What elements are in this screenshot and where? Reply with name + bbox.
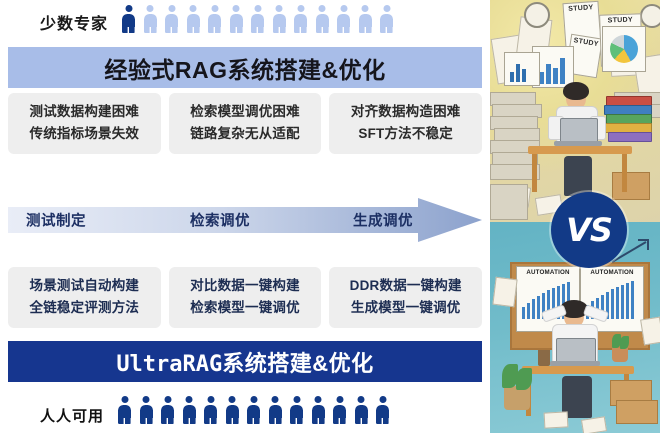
desk-top (528, 146, 632, 154)
person-icon (376, 396, 389, 424)
person-icon-body (337, 14, 350, 34)
person-icon-body (204, 405, 217, 425)
loose-paper (640, 317, 660, 346)
card-line: 传统指标场景失效 (30, 123, 140, 145)
pain-point-card: 检索模型调优困难 链路复杂无从适配 (169, 93, 322, 154)
person-icon-body (269, 405, 282, 425)
person-icon-head (121, 396, 128, 403)
pie-chart-poster (602, 26, 646, 72)
study-poster-label: STUDY (573, 37, 599, 48)
arrow-label: 生成调优 (353, 210, 413, 231)
pain-point-card-group: 测试数据构建困难 传统指标场景失效 检索模型调优困难 链路复杂无从适配 对齐数据… (8, 93, 482, 154)
person-icon-body (187, 14, 200, 34)
person-icon-body (165, 14, 178, 34)
solution-card: 对比数据一键构建 检索模型一键调优 (169, 267, 322, 328)
person-icon-head (383, 5, 390, 12)
arrow-label: 测试制定 (26, 210, 86, 231)
bar (522, 307, 525, 319)
bar (553, 68, 558, 84)
person-icon-head (233, 5, 240, 12)
desk-leg (532, 154, 537, 192)
desk-top (522, 366, 634, 374)
book (608, 132, 652, 142)
person-icon (269, 396, 282, 424)
solution-card: 场景测试自动构建 全链稳定评测方法 (8, 267, 161, 328)
ultrarag-banner-text: UltraRAG系统搭建&优化 (116, 346, 373, 378)
card-line: 检索模型调优困难 (190, 101, 300, 123)
person-icon-body (208, 14, 221, 34)
person-icon (294, 5, 307, 33)
person-icon (337, 5, 350, 33)
automation-poster: AUTOMATION (580, 266, 644, 332)
person-icon-head (336, 396, 343, 403)
loose-paper (544, 411, 569, 428)
person-icon-head (319, 5, 326, 12)
person-icon (183, 396, 196, 424)
plant-leaf (620, 336, 629, 349)
person-icon (208, 5, 221, 33)
card-line: 对比数据一键构建 (190, 275, 300, 297)
person-icon-head (254, 5, 261, 12)
person-icon (118, 396, 131, 424)
vs-badge-text: VS (566, 211, 612, 249)
person-icon-head (168, 5, 175, 12)
person-icon-body (144, 14, 157, 34)
person-icon-head (143, 396, 150, 403)
person-icon-head (190, 5, 197, 12)
cardboard-box (616, 400, 658, 424)
person-icon-body (251, 14, 264, 34)
bar (616, 287, 619, 319)
person-icon-body (316, 14, 329, 34)
bar (516, 64, 520, 82)
person-icon-head (207, 396, 214, 403)
card-line: SFT方法不稳定 (358, 123, 453, 145)
top-person-icon-group (122, 5, 393, 33)
card-line: 对齐数据构造困难 (351, 101, 461, 123)
pen-cup (538, 350, 550, 366)
cluttered-desk-photo: STUDY STUDY STUDY (490, 0, 660, 222)
person-icon-head (358, 396, 365, 403)
card-line: DDR数据一键构建 (350, 275, 462, 297)
person-icon (247, 396, 260, 424)
automation-poster-label: AUTOMATION (590, 269, 633, 276)
stage-flow-arrow: 测试制定 检索调优 生成调优 (8, 198, 482, 242)
person-icon-body (312, 405, 325, 425)
person-icon-body (290, 405, 303, 425)
card-line: 生成模型一键调优 (351, 297, 461, 319)
person-icon (140, 396, 153, 424)
person-icon-head (186, 396, 193, 403)
automation-poster-label: AUTOMATION (526, 269, 569, 276)
paper-pile (490, 184, 528, 220)
person-icon-body (359, 14, 372, 34)
bar (532, 299, 535, 319)
top-audience-row: 少数专家 (40, 5, 393, 33)
pie-chart-icon (610, 35, 638, 63)
loose-paper (581, 416, 607, 433)
person-icon-body (376, 405, 389, 425)
person-icon (226, 396, 239, 424)
bar (527, 303, 530, 319)
person-icon (187, 5, 200, 33)
bottom-audience-label: 人人可用 (40, 409, 104, 424)
person-icon-body (273, 14, 286, 34)
bar (626, 283, 629, 319)
card-line: 检索模型一键调优 (190, 297, 300, 319)
person-icon (122, 5, 135, 33)
study-poster-label: STUDY (568, 4, 594, 13)
person-icon-body (247, 405, 260, 425)
person-icon (161, 396, 174, 424)
person-icon-head (164, 396, 171, 403)
card-line: 全链稳定评测方法 (30, 297, 140, 319)
ultrarag-wordmark: UltraRAG (116, 352, 222, 377)
person-icon-body (230, 14, 243, 34)
desk-leg (622, 154, 627, 192)
person-icon (273, 5, 286, 33)
pain-point-card: 对齐数据构造困难 SFT方法不稳定 (329, 93, 482, 154)
person-icon-head (297, 5, 304, 12)
experience-rag-banner: 经验式RAG系统搭建&优化 (8, 47, 482, 88)
person-icon-body (122, 14, 135, 34)
person-icon (359, 5, 372, 33)
person-hair (563, 82, 589, 100)
card-line: 链路复杂无从适配 (190, 123, 300, 145)
person-icon-head (293, 396, 300, 403)
person-icon (204, 396, 217, 424)
person-icon (144, 5, 157, 33)
bottom-person-icon-group (118, 396, 389, 424)
person-icon-body (294, 14, 307, 34)
bar (611, 289, 614, 319)
experience-rag-banner-text: 经验式RAG系统搭建&优化 (104, 51, 385, 85)
person-icon (251, 5, 264, 33)
vs-badge: VS (551, 192, 627, 268)
person-icon-body (380, 14, 393, 34)
person-icon (355, 396, 368, 424)
person-icon (333, 396, 346, 424)
bar (621, 285, 624, 319)
person-icon-body (355, 405, 368, 425)
person-icon-body (118, 405, 131, 425)
plant-pot (612, 348, 628, 362)
person-icon (230, 5, 243, 33)
bar (510, 72, 514, 82)
person-icon-body (226, 405, 239, 425)
top-audience-label: 少数专家 (40, 17, 108, 33)
person-icon-head (379, 396, 386, 403)
person-icon-head (340, 5, 347, 12)
chair (564, 156, 592, 196)
person-icon-head (211, 5, 218, 12)
study-poster-label: STUDY (608, 17, 633, 25)
card-line: 测试数据构建困难 (30, 101, 140, 123)
person-icon (312, 396, 325, 424)
bar (546, 64, 551, 84)
person-icon-head (276, 5, 283, 12)
solution-card: DDR数据一键构建 生成模型一键调优 (329, 267, 482, 328)
bar (560, 58, 565, 84)
person-icon-body (183, 405, 196, 425)
left-content-panel: 少数专家 经验式RAG系统搭建&优化 测试数据构建困难 传统指标场景失效 检索模… (0, 0, 490, 433)
card-line: 场景测试自动构建 (30, 275, 140, 297)
person-icon (290, 396, 303, 424)
person-icon-body (333, 405, 346, 425)
pain-point-card: 测试数据构建困难 传统指标场景失效 (8, 93, 161, 154)
slide-canvas: 少数专家 经验式RAG系统搭建&优化 测试数据构建困难 传统指标场景失效 检索模… (0, 0, 660, 433)
person-icon (316, 5, 329, 33)
chart-poster (504, 52, 540, 86)
arrow-label: 检索调优 (190, 210, 250, 231)
plant-leaf (516, 368, 532, 390)
person-icon-head (147, 5, 154, 12)
clock-icon (524, 2, 550, 28)
person-icon (165, 5, 178, 33)
person-icon-head (362, 5, 369, 12)
person-icon-head (125, 5, 132, 12)
ultrarag-banner: UltraRAG系统搭建&优化 (8, 341, 482, 382)
bar (631, 281, 634, 319)
person-icon-head (272, 396, 279, 403)
bar (537, 296, 540, 319)
cardboard-box (612, 172, 650, 200)
bottom-audience-row: 人人可用 (40, 396, 389, 424)
person-icon (380, 5, 393, 33)
person-icon-head (229, 396, 236, 403)
bar (522, 69, 526, 82)
clock-icon (640, 4, 660, 28)
loose-paper (492, 277, 517, 307)
person-icon-head (315, 396, 322, 403)
person-icon-body (161, 405, 174, 425)
solution-card-group: 场景测试自动构建 全链稳定评测方法 对比数据一键构建 检索模型一键调优 DDR数… (8, 267, 482, 328)
person-icon-head (250, 396, 257, 403)
ultrarag-banner-suffix: 系统搭建&优化 (222, 351, 373, 376)
person-icon-body (140, 405, 153, 425)
